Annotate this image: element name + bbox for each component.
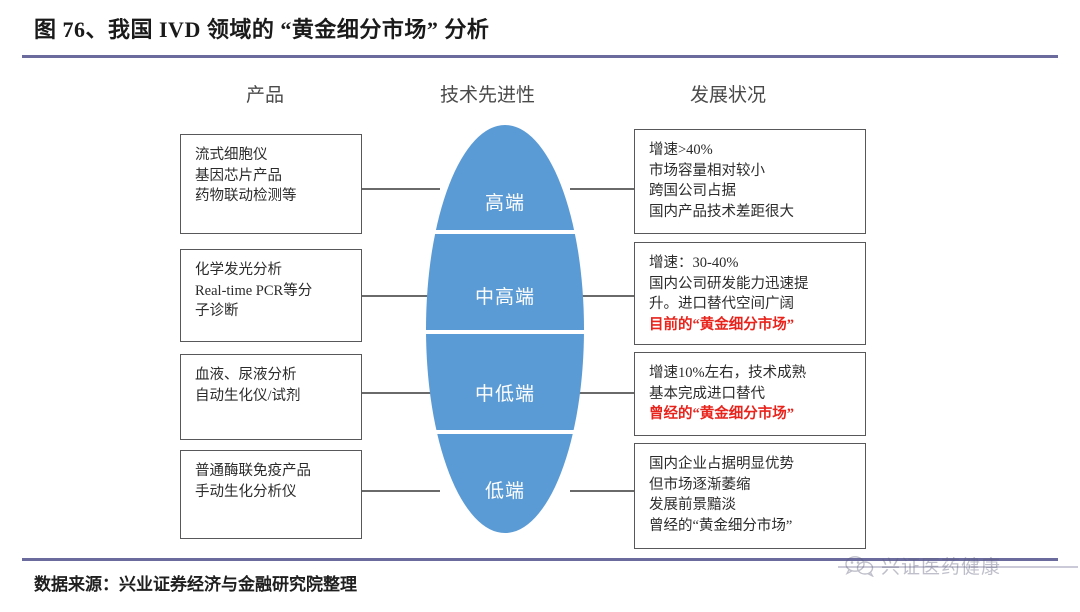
product-box: 流式细胞仪 基因芯片产品 药物联动检测等 [180,134,362,234]
status-line: 增速：30-40% [649,253,853,274]
status-box: 增速10%左右，技术成熟 基本完成进口替代 曾经的“黄金细分市场” [634,352,866,436]
status-line: 跨国公司占据 [649,181,853,202]
status-line: 市场容量相对较小 [649,161,853,182]
status-box: 增速>40% 市场容量相对较小 跨国公司占据 国内产品技术差距很大 [634,129,866,234]
tier-ellipse-diagram: 高端 中高端 中低端 低端 [425,124,585,534]
status-line: 增速10%左右，技术成熟 [649,363,853,384]
product-line: 普通酶联免疫产品 [195,461,349,482]
status-line: 增速>40% [649,140,853,161]
product-box: 血液、尿液分析 自动生化仪/试剂 [180,354,362,440]
status-line: 基本完成进口替代 [649,384,853,405]
figure-page: 图 76、我国 IVD 领域的 “黄金细分市场” 分析 产品 技术先进性 发展状… [0,0,1080,612]
column-header-status: 发展状况 [690,80,766,107]
product-box: 普通酶联免疫产品 手动生化分析仪 [180,450,362,539]
product-line: 血液、尿液分析 [195,365,349,386]
product-line: Real-time PCR等分 [195,281,349,302]
data-source-footer: 数据来源：兴业证券经济与金融研究院整理 [34,570,357,595]
page-title: 图 76、我国 IVD 领域的 “黄金细分市场” 分析 [34,12,489,44]
product-line: 药物联动检测等 [195,186,349,207]
status-line: 国内企业占据明显优势 [649,454,853,475]
watermark-text: 兴证医药健康 [881,552,1001,579]
status-line: 升。进口替代空间广阔 [649,294,853,315]
column-header-product: 产品 [246,80,284,107]
status-line: 但市场逐渐萎缩 [649,475,853,496]
watermark: 兴证医药健康 [845,552,1001,579]
column-header-tech: 技术先进性 [440,80,535,107]
title-divider-rule [22,55,1058,58]
status-line: 曾经的“黄金细分市场” [649,516,853,537]
status-box: 国内企业占据明显优势 但市场逐渐萎缩 发展前景黯淡 曾经的“黄金细分市场” [634,443,866,549]
product-box: 化学发光分析 Real-time PCR等分 子诊断 [180,249,362,342]
status-line: 发展前景黯淡 [649,495,853,516]
product-line: 基因芯片产品 [195,166,349,187]
status-line-highlight: 目前的“黄金细分市场” [649,315,853,336]
status-line-highlight: 曾经的“黄金细分市场” [649,404,853,425]
product-line: 流式细胞仪 [195,145,349,166]
product-line: 手动生化分析仪 [195,482,349,503]
product-line: 自动生化仪/试剂 [195,386,349,407]
status-line: 国内公司研发能力迅速提 [649,274,853,295]
product-line: 化学发光分析 [195,260,349,281]
wechat-icon [845,555,875,577]
product-line: 子诊断 [195,301,349,322]
status-box: 增速：30-40% 国内公司研发能力迅速提 升。进口替代空间广阔 目前的“黄金细… [634,242,866,345]
ellipse-shape [425,124,585,534]
status-line: 国内产品技术差距很大 [649,202,853,223]
